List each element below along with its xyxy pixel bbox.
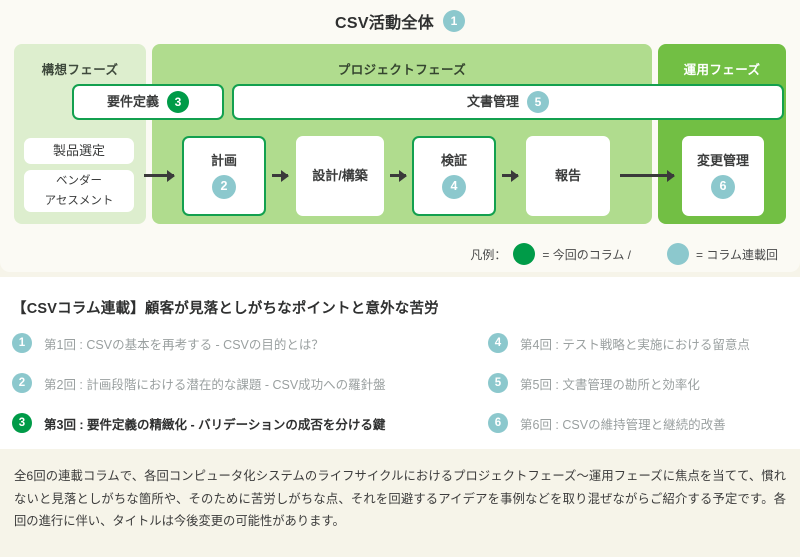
box-change-management-label: 変更管理	[697, 153, 749, 169]
list-item-current[interactable]: 3 第3回 : 要件定義の精緻化 - バリデーションの成否を分ける鍵	[12, 413, 386, 433]
box-product-selection[interactable]: 製品選定	[24, 138, 134, 164]
list-item-badge: 2	[12, 373, 32, 393]
phase-label-project: プロジェクトフェーズ	[152, 59, 652, 78]
arrow-concept-to-plan	[144, 174, 174, 177]
box-vendor-assessment-label-2: アセスメント	[45, 194, 114, 208]
box-requirements-badge: 3	[167, 91, 189, 113]
box-verification[interactable]: 検証 4	[412, 136, 496, 216]
box-plan[interactable]: 計画 2	[182, 136, 266, 216]
list-item-badge: 6	[488, 413, 508, 433]
list-item[interactable]: 2 第2回 : 計画段階における潜在的な課題 - CSV成功への羅針盤	[12, 373, 386, 393]
box-change-management-badge: 6	[711, 175, 735, 199]
list-item-badge: 5	[488, 373, 508, 393]
legend-label: 凡例：	[470, 246, 506, 263]
list-item-label: 第1回 : CSVの基本を再考する - CSVの目的とは？	[44, 334, 324, 353]
arrow-verification-to-report	[502, 174, 518, 177]
series-list-right: 4 第4回 : テスト戦略と実施における留意点 5 第5回 : 文書管理の勘所と…	[488, 333, 750, 433]
phase-label-concept: 構想フェーズ	[14, 59, 146, 78]
diagram-title-row: CSV活動全体 1	[0, 9, 800, 33]
list-item[interactable]: 6 第6回 : CSVの維持管理と継続的改善	[488, 413, 750, 433]
box-report[interactable]: 報告	[526, 136, 610, 216]
footer-text: 全6回の連載コラムで、各回コンピュータ化システムのライフサイクルにおけるプロジェ…	[14, 465, 786, 533]
arrow-design-to-verification	[390, 174, 406, 177]
box-verification-badge: 4	[442, 175, 466, 199]
list-item-label: 第3回 : 要件定義の精緻化 - バリデーションの成否を分ける鍵	[44, 414, 385, 433]
box-verification-label: 検証	[441, 153, 467, 169]
list-item[interactable]: 1 第1回 : CSVの基本を再考する - CSVの目的とは？	[12, 333, 386, 353]
legend-series-text: = コラム連載回	[696, 246, 778, 263]
box-vendor-assessment[interactable]: ベンダー アセスメント	[24, 170, 134, 212]
box-design-build-label: 設計/構築	[312, 168, 368, 184]
legend-current-text: = 今回のコラム /	[542, 246, 631, 263]
list-item-label: 第2回 : 計画段階における潜在的な課題 - CSV成功への羅針盤	[44, 374, 386, 393]
box-plan-badge: 2	[212, 175, 236, 199]
legend-current-dot-icon	[513, 243, 535, 265]
list-item[interactable]: 4 第4回 : テスト戦略と実施における留意点	[488, 333, 750, 353]
box-design-build[interactable]: 設計/構築	[296, 136, 384, 216]
box-requirements-label: 要件定義	[107, 94, 159, 110]
list-item-badge: 1	[12, 333, 32, 353]
csv-lifecycle-diagram: CSV活動全体 1 構想フェーズ プロジェクトフェーズ 運用フェーズ 要件定義 …	[0, 0, 800, 272]
arrow-plan-to-design	[272, 174, 288, 177]
box-report-label: 報告	[555, 168, 581, 184]
column-series-panel: 【CSVコラム連載】顧客が見落としがちなポイントと意外な苦労 1 第1回 : C…	[0, 277, 800, 449]
series-heading: 【CSVコラム連載】顧客が見落としがちなポイントと意外な苦労	[12, 297, 439, 318]
box-product-selection-label: 製品選定	[53, 143, 105, 159]
list-item-badge: 3	[12, 413, 32, 433]
arrow-report-to-change	[620, 174, 674, 177]
legend-series-dot-icon	[667, 243, 689, 265]
list-item-label: 第6回 : CSVの維持管理と継続的改善	[520, 414, 726, 433]
page-title: CSV活動全体	[335, 9, 434, 33]
box-change-management[interactable]: 変更管理 6	[682, 136, 764, 216]
diagram-title-badge: 1	[443, 10, 465, 32]
list-item[interactable]: 5 第5回 : 文書管理の勘所と効率化	[488, 373, 750, 393]
page-root: CSV活動全体 1 構想フェーズ プロジェクトフェーズ 運用フェーズ 要件定義 …	[0, 0, 800, 557]
series-list-left: 1 第1回 : CSVの基本を再考する - CSVの目的とは？ 2 第2回 : …	[12, 333, 386, 433]
box-plan-label: 計画	[211, 153, 237, 169]
box-document-management[interactable]: 文書管理 5	[232, 84, 784, 120]
box-vendor-assessment-label-1: ベンダー	[56, 174, 102, 188]
list-item-label: 第4回 : テスト戦略と実施における留意点	[520, 334, 750, 353]
footer-description: 全6回の連載コラムで、各回コンピュータ化システムのライフサイクルにおけるプロジェ…	[0, 449, 800, 557]
box-document-label: 文書管理	[467, 94, 519, 110]
box-document-badge: 5	[527, 91, 549, 113]
legend: 凡例： = 今回のコラム / = コラム連載回	[0, 243, 800, 265]
list-item-badge: 4	[488, 333, 508, 353]
list-item-label: 第5回 : 文書管理の勘所と効率化	[520, 374, 700, 393]
phase-label-operation: 運用フェーズ	[658, 59, 786, 78]
box-requirements-definition[interactable]: 要件定義 3	[72, 84, 224, 120]
